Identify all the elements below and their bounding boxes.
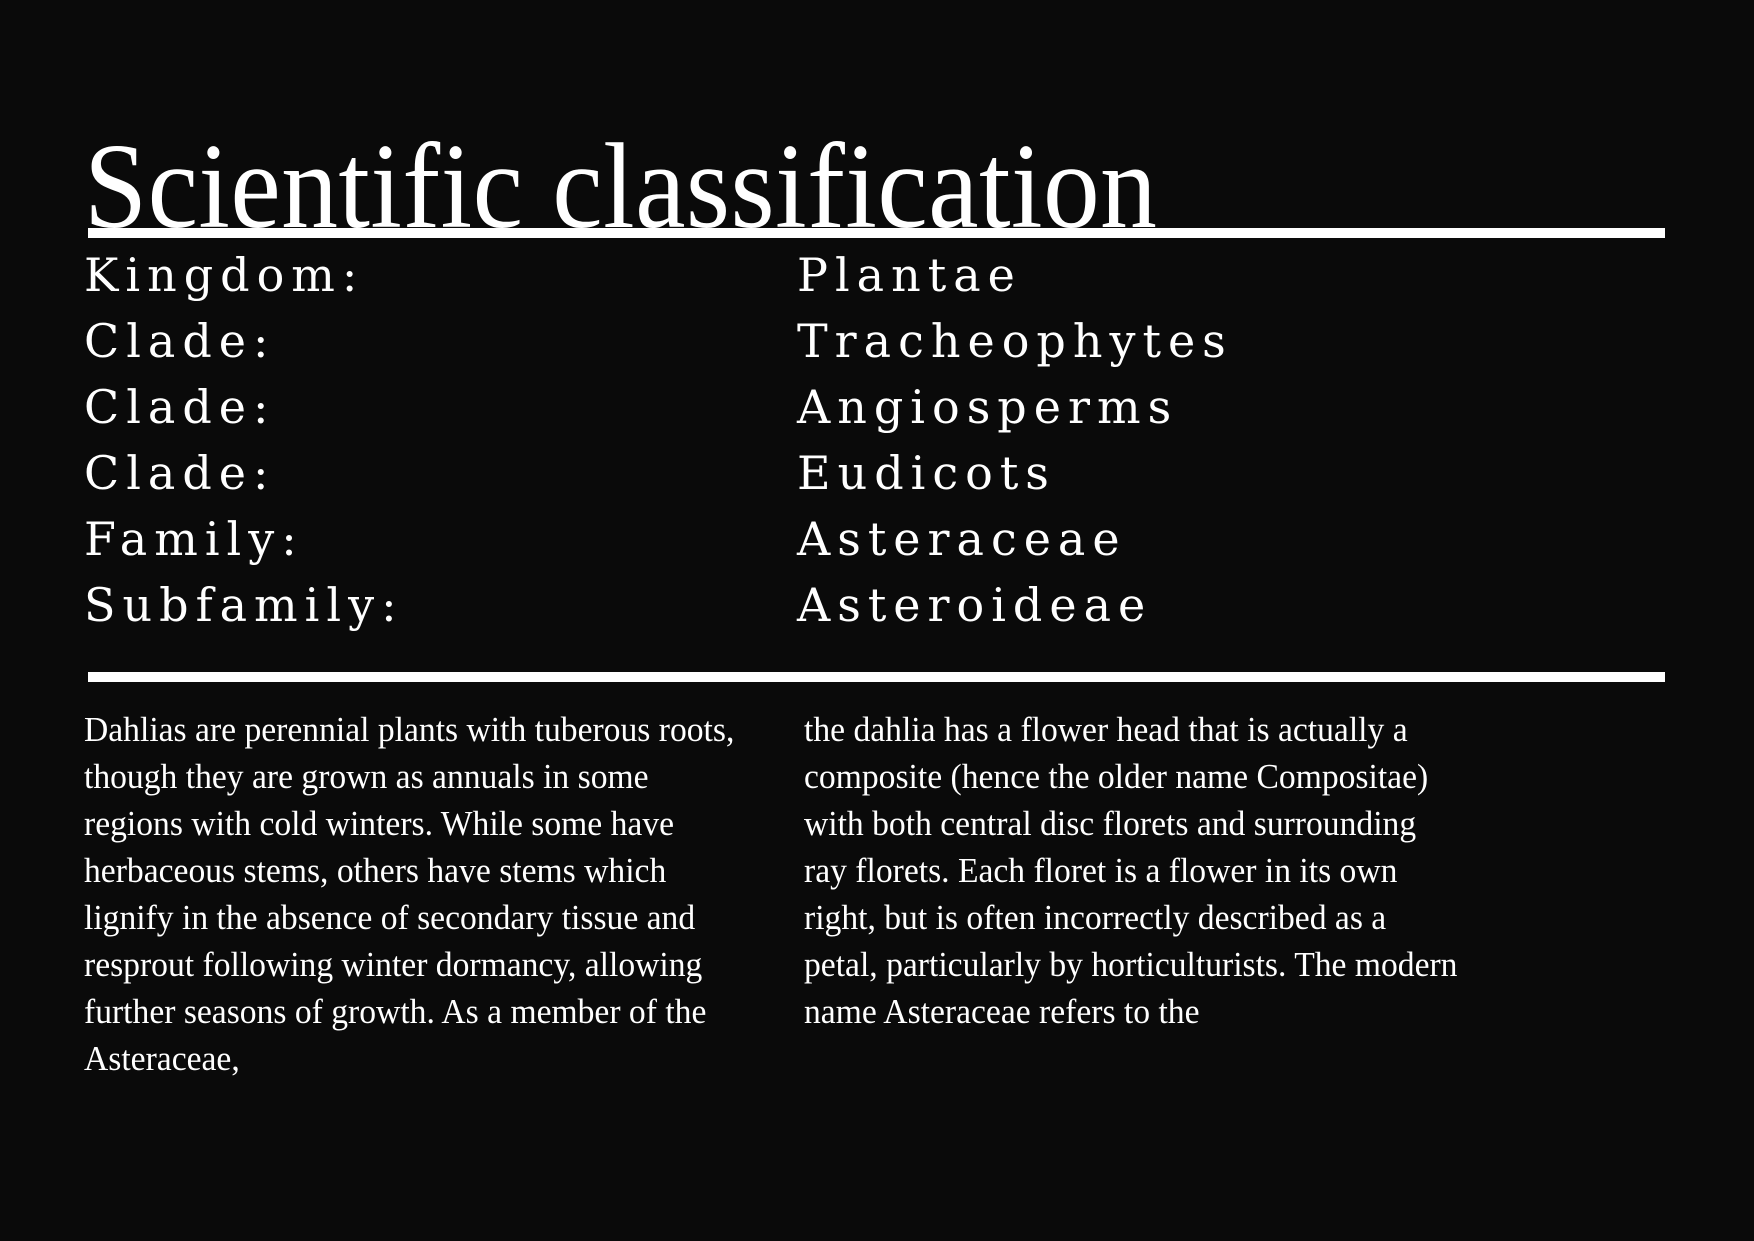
divider-top [88,228,1665,238]
taxon-rank-value[interactable]: Tracheophytes [797,308,1674,374]
taxon-rank-label: Clade: [84,308,797,374]
taxon-rank-label: Subfamily: [84,572,797,638]
scientific-classification-infobox: Scientific classification Kingdom: Plant… [0,0,1754,1241]
taxon-rank-label: Kingdom: [84,242,797,308]
table-row: Clade: Tracheophytes [84,308,1674,374]
taxon-rank-value[interactable]: Angiosperms [797,374,1674,440]
description-column-right: the dahlia has a flower head that is act… [804,706,1466,1082]
taxon-rank-label: Family: [84,506,797,572]
table-row: Kingdom: Plantae [84,242,1674,308]
table-row: Subfamily: Asteroideae [84,572,1674,638]
taxon-rank-value[interactable]: Asteraceae [797,506,1674,572]
taxon-rank-label: Clade: [84,440,797,506]
table-row: Clade: Angiosperms [84,374,1674,440]
taxon-rank-value[interactable]: Plantae [797,242,1674,308]
taxon-rank-label: Clade: [84,374,797,440]
taxon-rank-value[interactable]: Asteroideae [797,572,1674,638]
description-text: Dahlias are perennial plants with tubero… [84,706,1684,1082]
taxon-rank-value[interactable]: Eudicots [797,440,1674,506]
divider-bottom [88,672,1665,682]
table-row: Family: Asteraceae [84,506,1674,572]
table-row: Clade: Eudicots [84,440,1674,506]
taxonomy-table: Kingdom: Plantae Clade: Tracheophytes Cl… [84,242,1674,638]
description-column-left: Dahlias are perennial plants with tubero… [84,706,746,1082]
